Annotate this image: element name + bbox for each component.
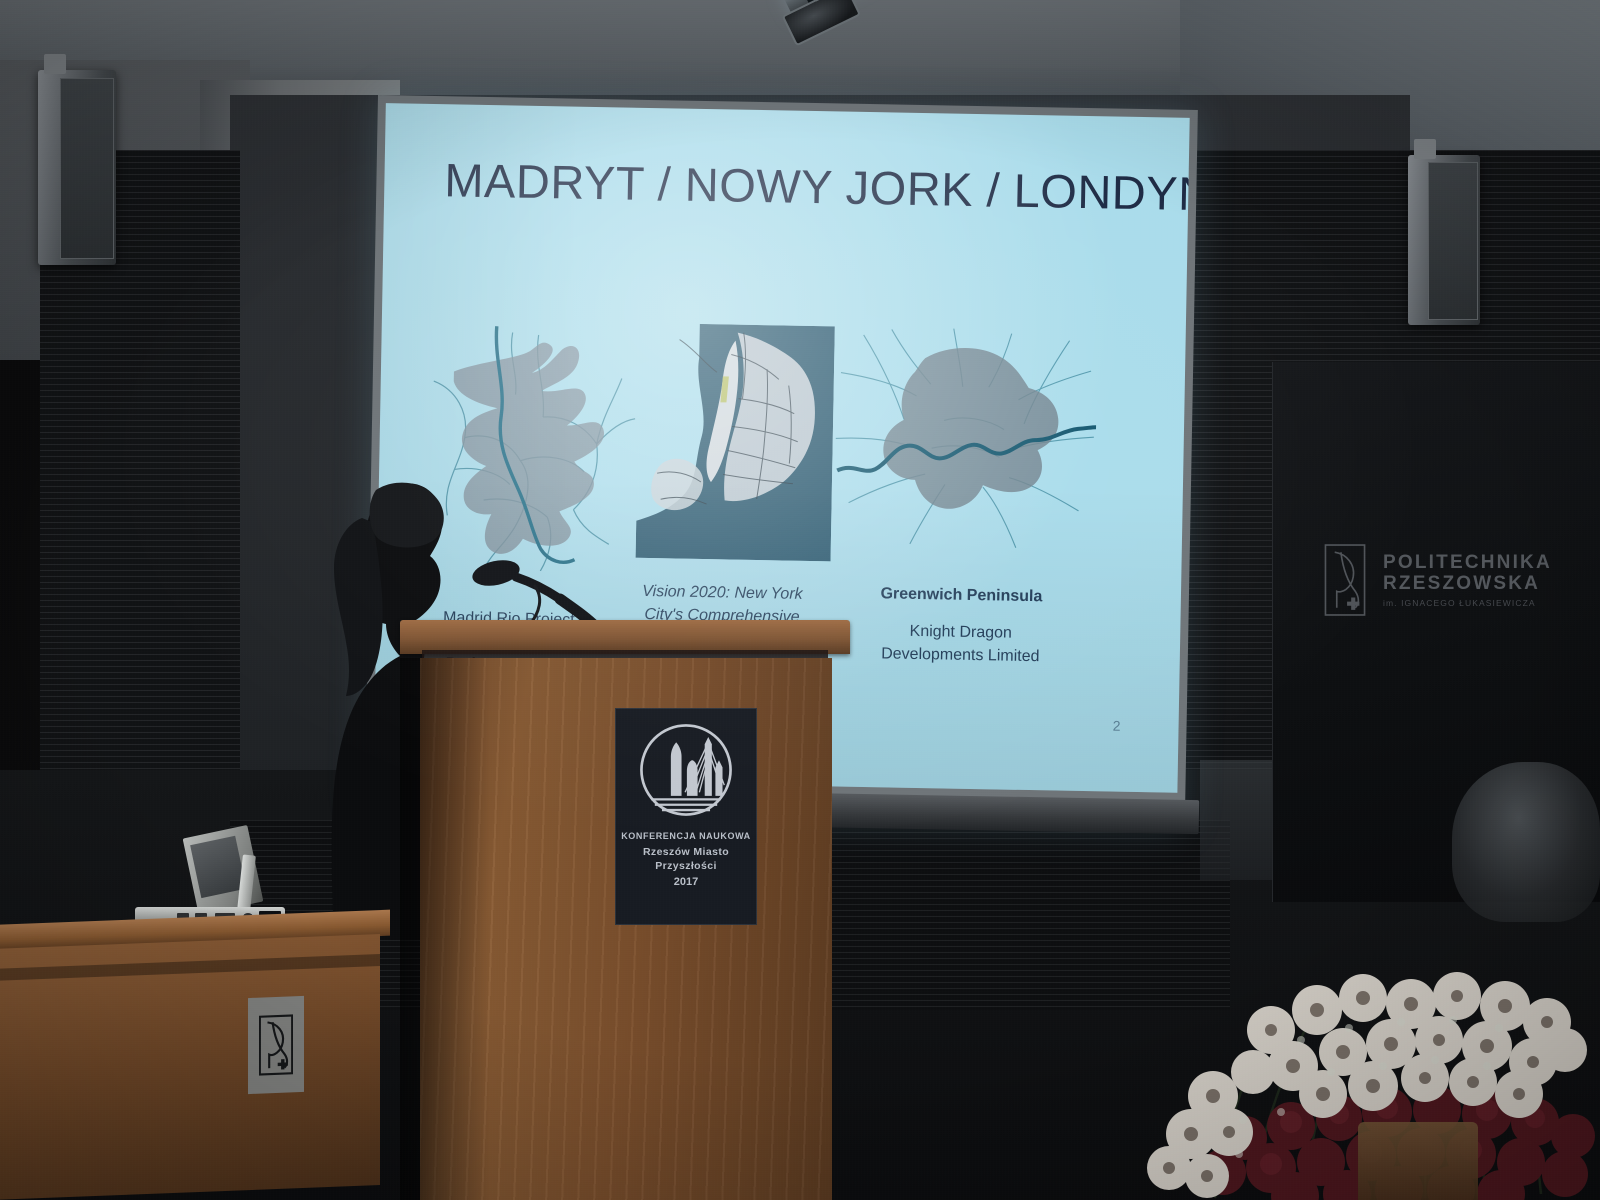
map-new-york-svg (636, 323, 835, 562)
prz-monogram-banner-svg (1321, 544, 1369, 616)
av-monitor-screen (190, 836, 246, 898)
floral-arrangement (1095, 880, 1600, 1200)
slide-title: MADRYT / NOWY JORK / LONDYN (444, 152, 1145, 220)
wooden-chair (1358, 1122, 1478, 1200)
caption-ny-line1: Vision 2020: New York (642, 583, 803, 603)
presentation-photo-scene: MADRYT / NOWY JORK / LONDYN (0, 0, 1600, 1200)
podium-desktop (400, 620, 850, 654)
caption-london-bold: Greenwich Peninsula (839, 582, 1084, 610)
podium: KONFERENCJA NAUKOWA Rzeszów Miasto Przys… (400, 620, 850, 1200)
presenter-ponytail (334, 518, 383, 696)
banner-line-3: im. IGNACEGO ŁUKASIEWICZA (1383, 599, 1552, 609)
speaker-grille (1428, 162, 1478, 320)
banner-monogram-p (1335, 552, 1354, 608)
podium-conference-sign[interactable]: KONFERENCJA NAUKOWA Rzeszów Miasto Przys… (615, 708, 757, 925)
speaker-bracket (1414, 139, 1436, 159)
speaker-grille (60, 78, 114, 259)
banner-logo-row: POLITECHNIKA RZESZOWSKA im. IGNACEGO ŁUK… (1321, 544, 1552, 616)
prz-monogram-desk-svg (259, 1013, 293, 1076)
slide-page-number: 2 (1113, 718, 1121, 734)
caption-london: Greenwich Peninsula Knight Dragon Develo… (838, 582, 1084, 670)
banner-line-2: RZESZOWSKA (1383, 573, 1552, 594)
flowers-svg (1095, 880, 1600, 1200)
logo-building (687, 760, 698, 796)
presenter-hair-bun (370, 483, 444, 548)
slide-maps-row (377, 318, 1186, 593)
sign-line-3: 2017 (616, 875, 756, 890)
banner-line-1: POLITECHNIKA (1383, 552, 1552, 573)
podium-shading (400, 658, 490, 1200)
map-london-svg (830, 326, 1099, 551)
speaker-bracket (44, 54, 66, 74)
sign-line-1: KONFERENCJA NAUKOWA (616, 830, 756, 842)
wall-speaker-right (1408, 155, 1480, 325)
side-desk (0, 925, 395, 1200)
map-london (830, 326, 1099, 551)
conference-sign-text: KONFERENCJA NAUKOWA Rzeszów Miasto Przys… (616, 830, 756, 890)
map-new-york (636, 323, 835, 562)
caption-london-sub1: Knight Dragon (838, 619, 1083, 647)
prz-logo-desk (248, 996, 304, 1094)
banner-monogram-cross (1347, 597, 1359, 609)
wall-speaker-left (38, 70, 116, 265)
banner-text-block: POLITECHNIKA RZESZOWSKA im. IGNACEGO ŁUK… (1383, 552, 1552, 608)
logo-spire-left (671, 742, 682, 795)
logo-tower-right (715, 760, 722, 796)
sign-line-2: Rzeszów Miasto Przyszłości (616, 845, 756, 873)
conference-logo (637, 721, 735, 824)
caption-london-sub2: Developments Limited (881, 646, 1040, 666)
conference-logo-svg (637, 721, 735, 819)
monogram-p-stroke (268, 1022, 284, 1068)
